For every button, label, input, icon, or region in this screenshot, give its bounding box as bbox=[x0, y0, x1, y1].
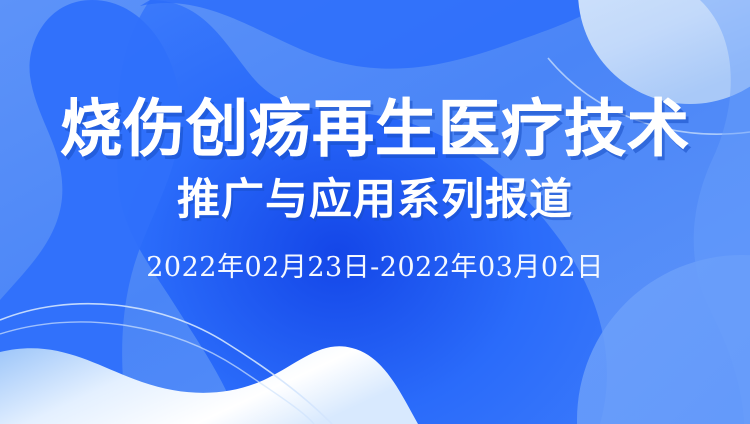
date-range-label: 2022年02月23日-2022年03月02日 bbox=[146, 245, 603, 284]
banner-content: 烧伤创疡再生医疗技术 推广与应用系列报道 2022年02月23日-2022年03… bbox=[0, 0, 750, 424]
page-title: 烧伤创疡再生医疗技术 bbox=[60, 96, 690, 161]
page-subtitle: 推广与应用系列报道 bbox=[177, 178, 573, 223]
promo-banner: 烧伤创疡再生医疗技术 推广与应用系列报道 2022年02月23日-2022年03… bbox=[0, 0, 750, 424]
